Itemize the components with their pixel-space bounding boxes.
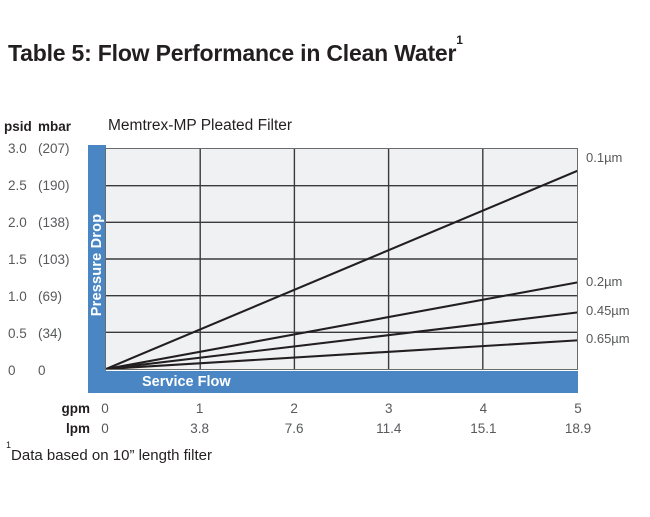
y-tick-row: 0 0 [0, 363, 84, 377]
x-axis-row-gpm: gpm 0 1 2 3 4 5 [0, 401, 650, 418]
y-tick-psid: 1.0 [8, 289, 36, 304]
y-tick-psid: 3.0 [8, 141, 36, 156]
y-tick-row: 2.5 (190) [0, 178, 84, 192]
page-title-superscript: 1 [456, 33, 462, 47]
series-line-0.45um [106, 313, 577, 369]
service-flow-axis-bar: Service Flow [88, 371, 578, 393]
y-tick-mbar: (190) [38, 178, 84, 193]
horizontal-gridlines [106, 186, 577, 333]
pressure-drop-axis-bar: Pressure Drop [88, 145, 106, 385]
series-label-0.1um: 0.1µm [586, 150, 622, 165]
x-tick-lpm-0: 0 [80, 421, 130, 436]
y-tick-row: 1.5 (103) [0, 252, 84, 266]
y-tick-row: 2.0 (138) [0, 215, 84, 229]
y-tick-row: 0.5 (34) [0, 326, 84, 340]
y-tick-psid: 2.0 [8, 215, 36, 230]
data-series-group [106, 171, 577, 369]
x-tick-gpm-0: 0 [80, 401, 130, 416]
x-tick-lpm-3: 11.4 [364, 421, 414, 436]
x-tick-lpm-2: 7.6 [269, 421, 319, 436]
y-tick-psid: 0 [8, 363, 36, 378]
footnote-superscript: 1 [6, 440, 11, 450]
y-axis-unit-header: psidmbar [4, 119, 71, 134]
y-tick-psid: 0.5 [8, 326, 36, 341]
chart-subtitle: Memtrex-MP Pleated Filter [108, 117, 292, 135]
x-axis-row-lpm: lpm 0 3.8 7.6 11.4 15.1 18.9 [0, 421, 650, 438]
x-tick-lpm-1: 3.8 [175, 421, 225, 436]
x-tick-gpm-1: 1 [175, 401, 225, 416]
y-tick-mbar: (103) [38, 252, 84, 267]
page-title-text: Table 5: Flow Performance in Clean Water [8, 40, 456, 66]
y-tick-mbar: (34) [38, 326, 84, 341]
y-tick-psid: 1.5 [8, 252, 36, 267]
y-tick-row: 1.0 (69) [0, 289, 84, 303]
y-tick-psid: 2.5 [8, 178, 36, 193]
series-label-0.2um: 0.2µm [586, 274, 622, 289]
series-label-0.65um: 0.65µm [586, 331, 630, 346]
plot-area [105, 148, 578, 370]
x-tick-gpm-4: 4 [458, 401, 508, 416]
series-label-0.45um: 0.45µm [586, 303, 630, 318]
x-tick-gpm-5: 5 [553, 401, 603, 416]
y-tick-mbar: (69) [38, 289, 84, 304]
footnote-text: Data based on 10” length filter [11, 447, 212, 464]
service-flow-axis-label: Service Flow [142, 374, 231, 390]
plot-svg [106, 149, 577, 369]
y-tick-mbar: (138) [38, 215, 84, 230]
y-tick-mbar: 0 [38, 363, 84, 378]
pressure-drop-axis-label: Pressure Drop [89, 214, 105, 317]
footnote: 1Data based on 10” length filter [6, 446, 212, 464]
series-line-0.65um [106, 340, 577, 369]
y-axis-unit-psid: psid [4, 119, 38, 134]
x-tick-gpm-3: 3 [364, 401, 414, 416]
x-tick-lpm-4: 15.1 [458, 421, 508, 436]
series-line-0.1um [106, 171, 577, 369]
y-axis-unit-mbar: mbar [38, 119, 71, 134]
y-tick-row: 3.0 (207) [0, 141, 84, 155]
y-tick-mbar: (207) [38, 141, 84, 156]
x-tick-lpm-5: 18.9 [553, 421, 603, 436]
page-title: Table 5: Flow Performance in Clean Water… [8, 40, 463, 67]
x-tick-gpm-2: 2 [269, 401, 319, 416]
